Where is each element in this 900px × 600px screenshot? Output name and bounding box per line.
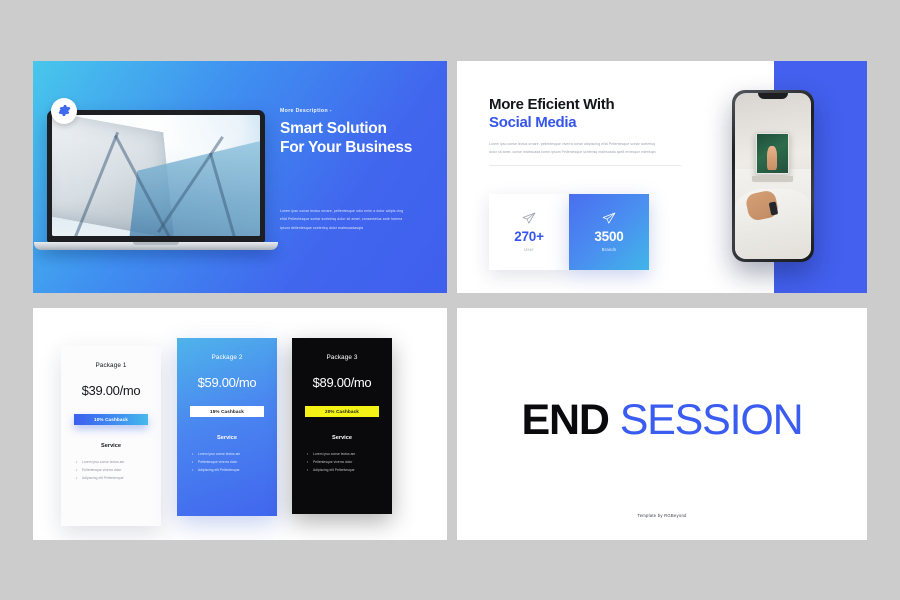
laptop-base — [34, 242, 278, 250]
list-item: Pellentesque viverra dolor — [198, 458, 269, 466]
pricing-card-package-3[interactable]: Package 3 $89.00/mo 20% Cashback Service… — [292, 338, 392, 514]
end-word-blue: SESSION — [620, 396, 803, 445]
hero-eyebrow: More Description - — [280, 108, 432, 114]
slide-grid: More Description - Smart Solution For Yo… — [0, 0, 900, 600]
list-item: Adipiscing elit Pellentesque — [82, 474, 153, 482]
social-heading-dark: More Eficient With — [489, 96, 701, 114]
feature-list: Lorem ipsu conse lectus am Pellentesque … — [300, 450, 384, 475]
end-title: END SESSION — [522, 396, 803, 445]
social-paragraph-line2: dolor sit amet, conse malesuada lorem ip… — [489, 148, 679, 157]
laptop-lid — [47, 110, 265, 242]
feature-list: Lorem ipsu conse lectus am Pellentesque … — [185, 450, 269, 475]
hero-paragraph-line3: ipsum dellentesque scelerisq dolor males… — [280, 224, 426, 233]
hero-paragraph: Lorem ipsu conse lectus ornare, pellente… — [280, 207, 426, 233]
pricing-card-row: Package 1 $39.00/mo 10% Cashback Service… — [61, 336, 392, 526]
package-price: $39.00/mo — [82, 383, 141, 398]
social-paragraph-line1: Lorem ipsu conse lectus ornare, pellente… — [489, 140, 679, 149]
service-heading: Service — [101, 443, 121, 449]
template-credit: Template by RGBeyond — [457, 513, 867, 518]
divider — [489, 165, 681, 166]
package-price: $59.00/mo — [198, 375, 257, 390]
list-item: Pellentesque viverra dolor — [82, 466, 153, 474]
paper-plane-icon — [520, 211, 538, 226]
laptop-screen-image — [52, 115, 260, 236]
laptop-mockup — [47, 110, 265, 250]
slide-hero[interactable]: More Description - Smart Solution For Yo… — [33, 61, 447, 293]
mini-laptop — [755, 132, 790, 175]
hero-title-line1: Smart Solution — [280, 119, 432, 139]
stat-label-brands: Brands — [602, 247, 616, 252]
phone-mockup — [732, 90, 814, 262]
social-paragraph: Lorem ipsu conse lectus ornare, pellente… — [489, 140, 679, 158]
phone-notch — [758, 93, 788, 99]
paper-plane-icon — [600, 211, 618, 226]
social-heading-blue: Social Media — [489, 114, 701, 132]
package-name: Package 3 — [326, 354, 357, 361]
list-item: Pellentesque viverra dolor — [313, 458, 384, 466]
hero-title: Smart Solution For Your Business — [280, 119, 432, 159]
list-item: Adipiscing elit Pellentesque — [198, 466, 269, 474]
slide-pricing[interactable]: Package 1 $39.00/mo 10% Cashback Service… — [33, 308, 447, 540]
hero-paragraph-line1: Lorem ipsu conse lectus ornare, pellente… — [280, 207, 426, 216]
list-item: Lorem ipsu conse lectus am — [82, 458, 153, 466]
hero-title-line2: For Your Business — [280, 138, 432, 158]
gear-badge — [51, 98, 77, 124]
end-word-dark: END — [522, 396, 609, 445]
stat-value-user: 270+ — [514, 230, 544, 244]
gear-icon — [58, 104, 71, 117]
list-item: Adipiscing elit Pellentesque — [313, 466, 384, 474]
slide-social[interactable]: More Eficient With Social Media Lorem ip… — [457, 61, 867, 293]
stat-card-user[interactable]: 270+ User — [489, 194, 569, 270]
list-item: Lorem ipsu conse lectus am — [198, 450, 269, 458]
feature-list: Lorem ipsu conse lectus am Pellentesque … — [69, 458, 153, 483]
list-item: Lorem ipsu conse lectus am — [313, 450, 384, 458]
stat-label-user: User — [524, 247, 534, 252]
cashback-button[interactable]: 10% Cashback — [74, 414, 148, 425]
stat-card-row: 270+ User 3500 Brands — [489, 194, 649, 270]
package-price: $89.00/mo — [313, 375, 372, 390]
cashback-button[interactable]: 15% Cashback — [190, 406, 264, 417]
hero-paragraph-line2: elitd Pellentesque scelar scelerisq dolo… — [280, 215, 426, 224]
phone-screen-image — [735, 93, 811, 259]
package-name: Package 2 — [211, 354, 242, 361]
social-heading: More Eficient With Social Media — [489, 96, 701, 133]
cashback-button[interactable]: 20% Cashback — [305, 406, 379, 417]
hero-copy: More Description - Smart Solution For Yo… — [280, 108, 432, 159]
service-heading: Service — [332, 435, 352, 441]
package-name: Package 1 — [95, 362, 126, 369]
stat-value-brands: 3500 — [594, 230, 623, 244]
stat-card-brands[interactable]: 3500 Brands — [569, 194, 649, 270]
slide-end[interactable]: END SESSION Template by RGBeyond — [457, 308, 867, 540]
pricing-card-package-1[interactable]: Package 1 $39.00/mo 10% Cashback Service… — [61, 346, 161, 526]
service-heading: Service — [217, 435, 237, 441]
pricing-card-package-2[interactable]: Package 2 $59.00/mo 15% Cashback Service… — [177, 338, 277, 516]
